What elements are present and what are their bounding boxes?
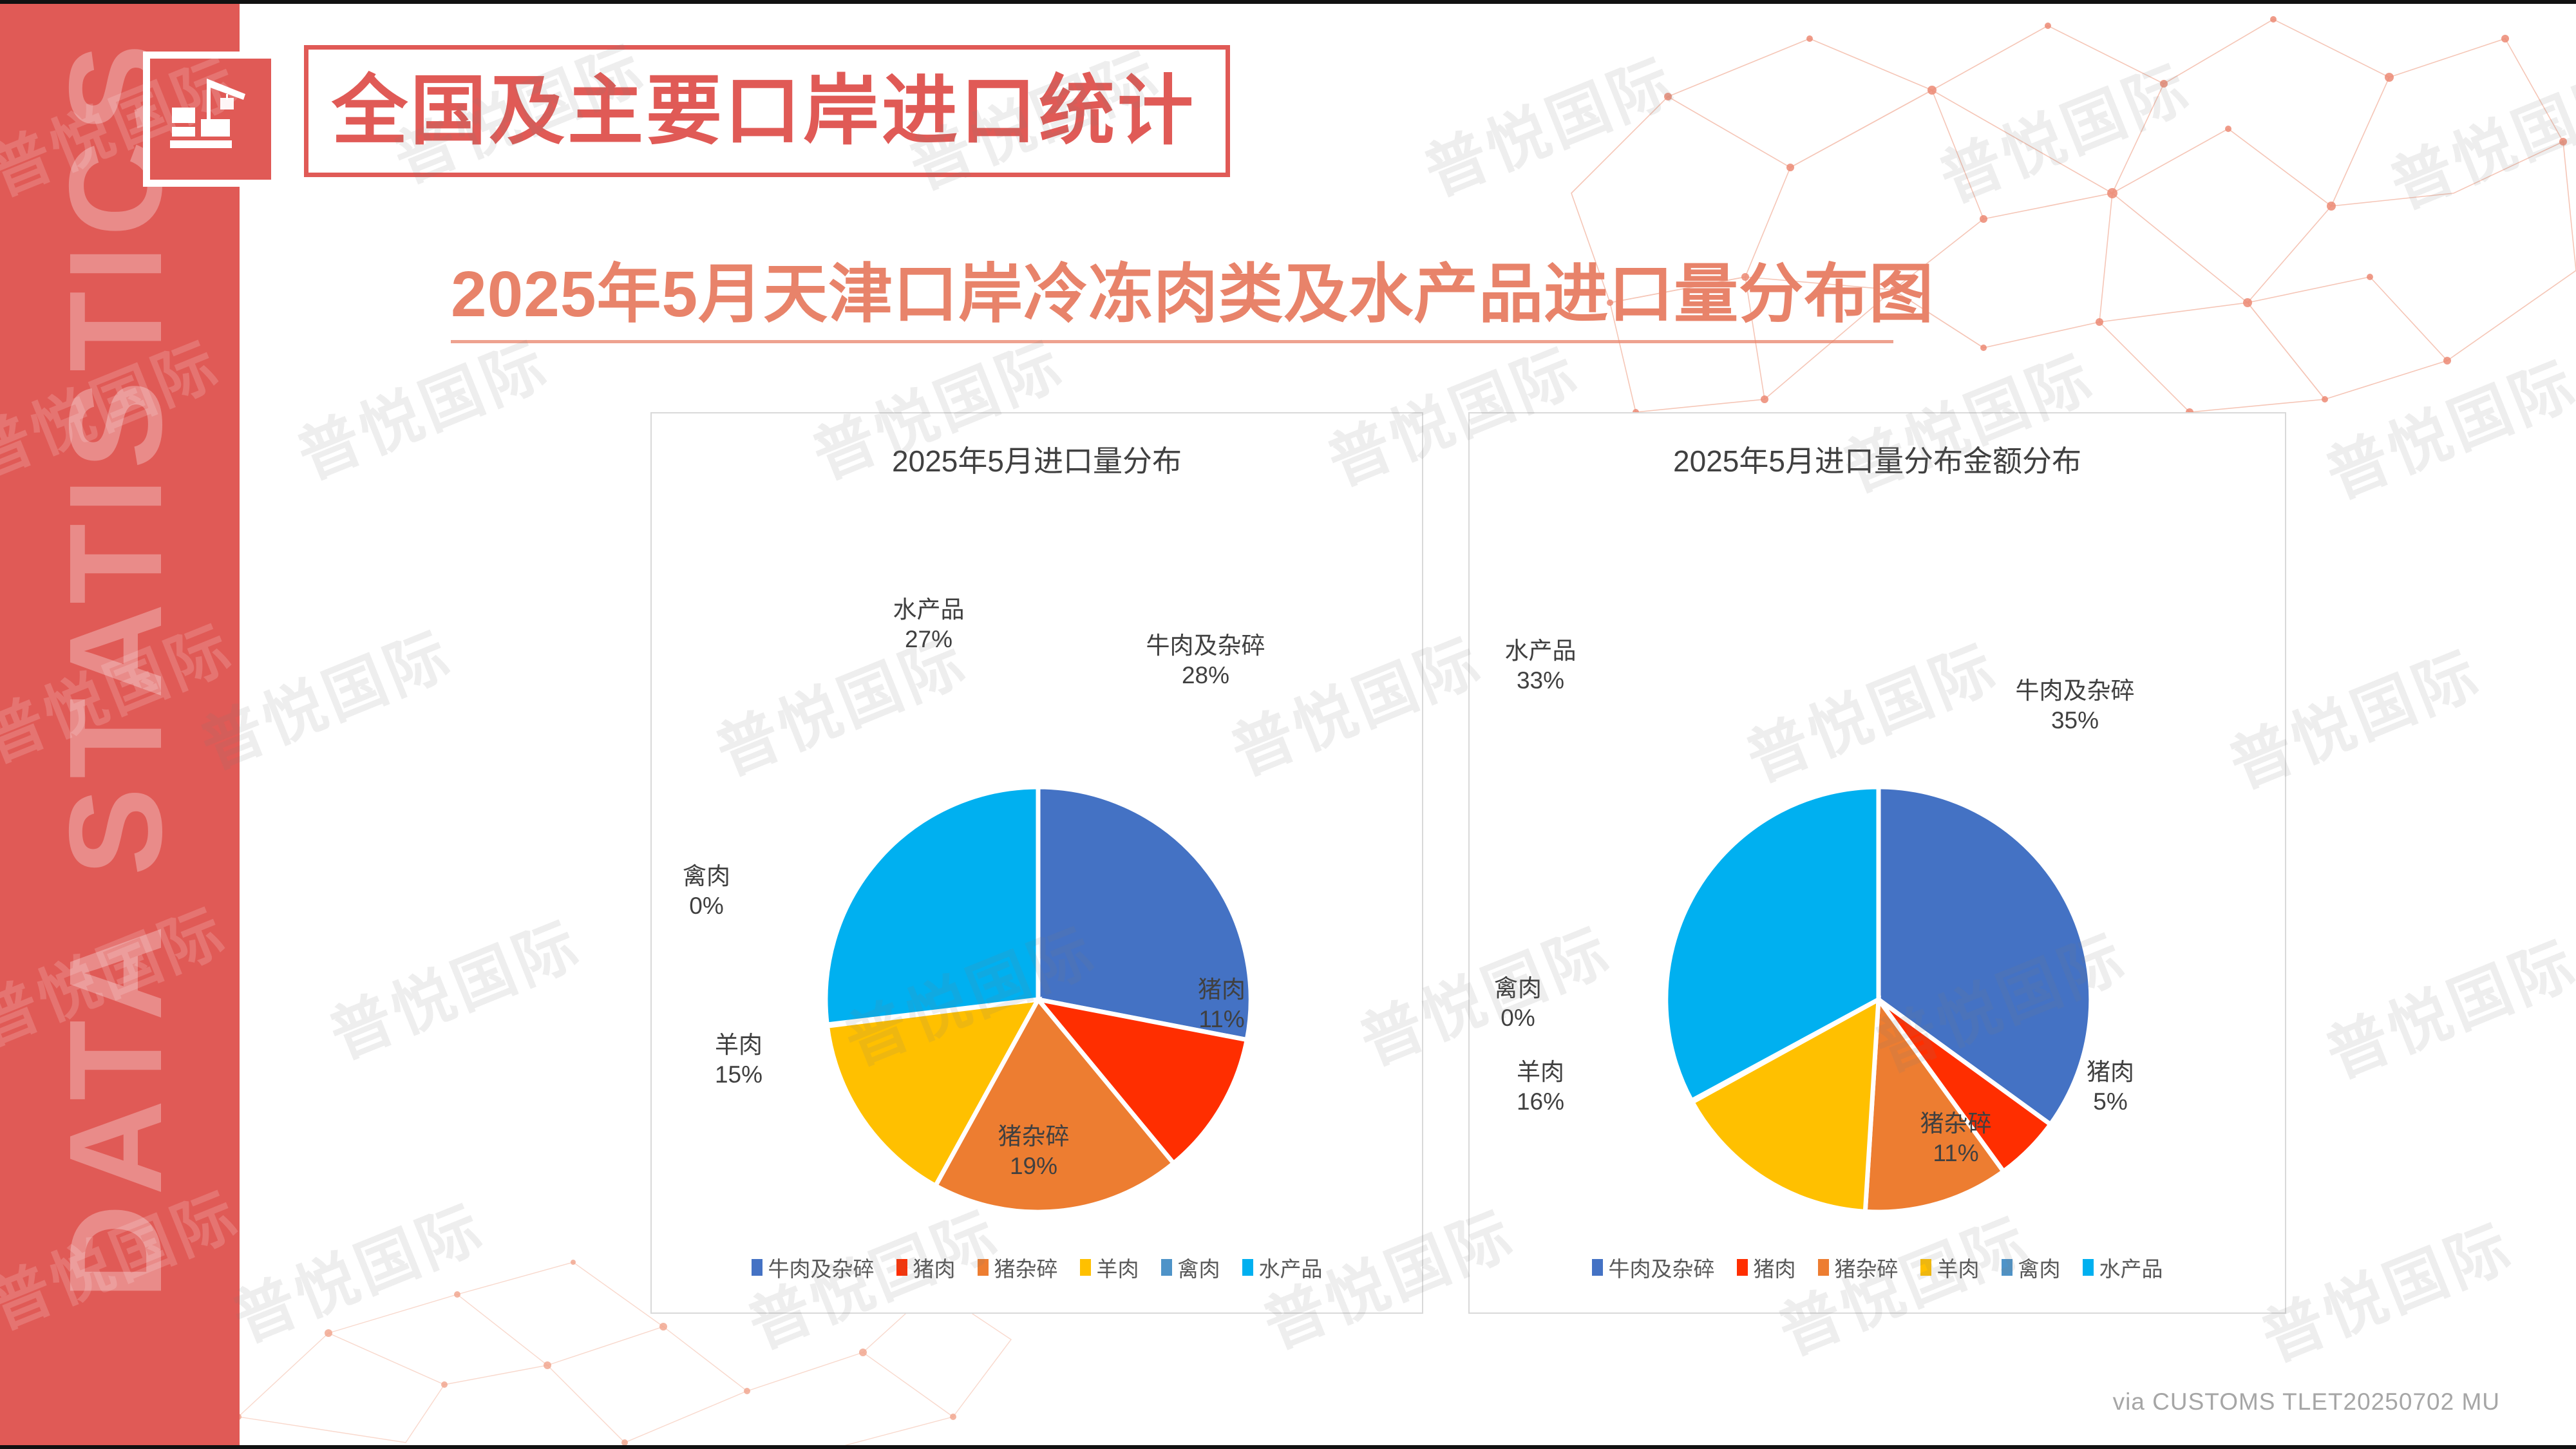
legend-item-beef[interactable]: 牛肉及杂碎 <box>752 1252 875 1283</box>
pie-label-pork-offal: 猪杂碎 11% <box>1882 1109 2030 1169</box>
watermark: 普悦国际 <box>1925 38 2202 220</box>
legend-swatch-pork <box>1737 1259 1748 1276</box>
watermark: 普悦国际 <box>2311 914 2576 1095</box>
subtitle-text: 2025年5月天津口岸冷冻肉类及水产品进口量分布图 <box>451 256 2318 332</box>
legend-swatch-beef <box>1592 1259 1603 1276</box>
legend-item-pork[interactable]: 猪肉 <box>1737 1252 1796 1283</box>
pie-label-poultry: 禽肉 0% <box>1457 974 1579 1034</box>
chart-panel-value: 2025年5月进口量分布金额分布 <box>1468 412 2286 1314</box>
subtitle-block: 2025年5月天津口岸冷冻肉类及水产品进口量分布图 <box>451 256 2318 343</box>
watermark: 普悦国际 <box>2376 44 2576 226</box>
legend-item-poultry[interactable]: 禽肉 <box>1161 1252 1220 1283</box>
pie-label-aquatic: 水产品 33% <box>1463 636 1618 696</box>
pie-slice-aquatic <box>826 787 1038 1025</box>
legend-item-pork-offal[interactable]: 猪杂碎 <box>978 1252 1058 1283</box>
header-icon-badge <box>143 52 278 187</box>
legend-swatch-beef <box>752 1259 762 1276</box>
network-mesh-decoration <box>1533 0 2576 425</box>
watermark: 普悦国际 <box>315 895 592 1076</box>
chart-legend-value: 牛肉及杂碎 猪肉 猪杂碎 羊肉 禽肉 水产品 <box>1470 1252 2285 1283</box>
pie-label-pork: 猪肉 11% <box>1160 975 1283 1035</box>
page-title: 全国及主要口岸进口统计 <box>332 73 1196 149</box>
pie-label-mutton: 羊肉 16% <box>1476 1057 1605 1117</box>
watermark: 普悦国际 <box>218 1178 495 1359</box>
legend-swatch-aquatic <box>2083 1259 2094 1276</box>
watermark: 普悦国际 <box>2247 1197 2524 1379</box>
legend-item-pork-offal[interactable]: 猪杂碎 <box>1818 1252 1899 1283</box>
legend-swatch-aquatic <box>1242 1259 1253 1276</box>
pie-label-aquatic: 水产品 27% <box>851 595 1006 655</box>
top-edge-line <box>0 0 2576 4</box>
pie-label-beef: 牛肉及杂碎 28% <box>1115 631 1296 691</box>
watermark: 普悦国际 <box>2311 334 2576 516</box>
legend-item-mutton[interactable]: 羊肉 <box>1920 1252 1980 1283</box>
pie-label-beef: 牛肉及杂碎 35% <box>1985 676 2165 736</box>
legend-swatch-pork-offal <box>1818 1259 1829 1276</box>
legend-swatch-mutton <box>1920 1259 1931 1276</box>
sidebar-vertical-title: DATA STATISTICS REPORT <box>40 12 192 1300</box>
legend-swatch-pork-offal <box>978 1259 989 1276</box>
source-attribution: via CUSTOMS TLET20250702 MU <box>2113 1388 2500 1416</box>
pie-label-pork: 猪肉 5% <box>2049 1057 2172 1117</box>
legend-swatch-mutton <box>1080 1259 1091 1276</box>
legend-item-mutton[interactable]: 羊肉 <box>1080 1252 1139 1283</box>
pie-svg-value <box>1470 413 2287 1315</box>
legend-item-pork[interactable]: 猪肉 <box>896 1252 956 1283</box>
pie-label-poultry: 禽肉 0% <box>645 862 768 922</box>
header-title-frame: 全国及主要口岸进口统计 <box>304 45 1230 177</box>
bottom-edge-line <box>0 1445 2576 1449</box>
pie-chart-value: 牛肉及杂碎 35% 猪肉 5% 猪杂碎 11% 羊肉 16% 禽肉 0% 水产品… <box>1470 413 2285 1312</box>
chart-legend-volume: 牛肉及杂碎 猪肉 猪杂碎 羊肉 禽肉 水产品 <box>652 1252 1422 1283</box>
pie-chart-volume: 牛肉及杂碎 28% 猪肉 11% 猪杂碎 19% 羊肉 15% 禽肉 0% 水产… <box>652 413 1422 1312</box>
legend-item-aquatic[interactable]: 水产品 <box>1242 1252 1323 1283</box>
crane-construction-icon <box>162 71 259 167</box>
sidebar-accent-strip <box>213 0 240 1449</box>
subtitle-underline <box>451 340 1893 343</box>
pie-label-mutton: 羊肉 15% <box>674 1030 803 1090</box>
legend-item-poultry[interactable]: 禽肉 <box>2002 1252 2061 1283</box>
legend-swatch-poultry <box>1161 1259 1172 1276</box>
legend-swatch-pork <box>896 1259 907 1276</box>
pie-label-pork-offal: 猪杂碎 19% <box>960 1122 1108 1182</box>
watermark: 普悦国际 <box>1410 32 1687 213</box>
slide-canvas: DATA STATISTICS REPORT 全国及主要口岸进口统计 2025年… <box>0 0 2576 1449</box>
chart-panel-volume: 2025年5月进口量分布 牛 <box>650 412 1423 1314</box>
left-red-sidebar: DATA STATISTICS REPORT <box>0 0 213 1449</box>
legend-item-beef[interactable]: 牛肉及杂碎 <box>1592 1252 1715 1283</box>
legend-item-aquatic[interactable]: 水产品 <box>2083 1252 2163 1283</box>
legend-swatch-poultry <box>2002 1259 2012 1276</box>
